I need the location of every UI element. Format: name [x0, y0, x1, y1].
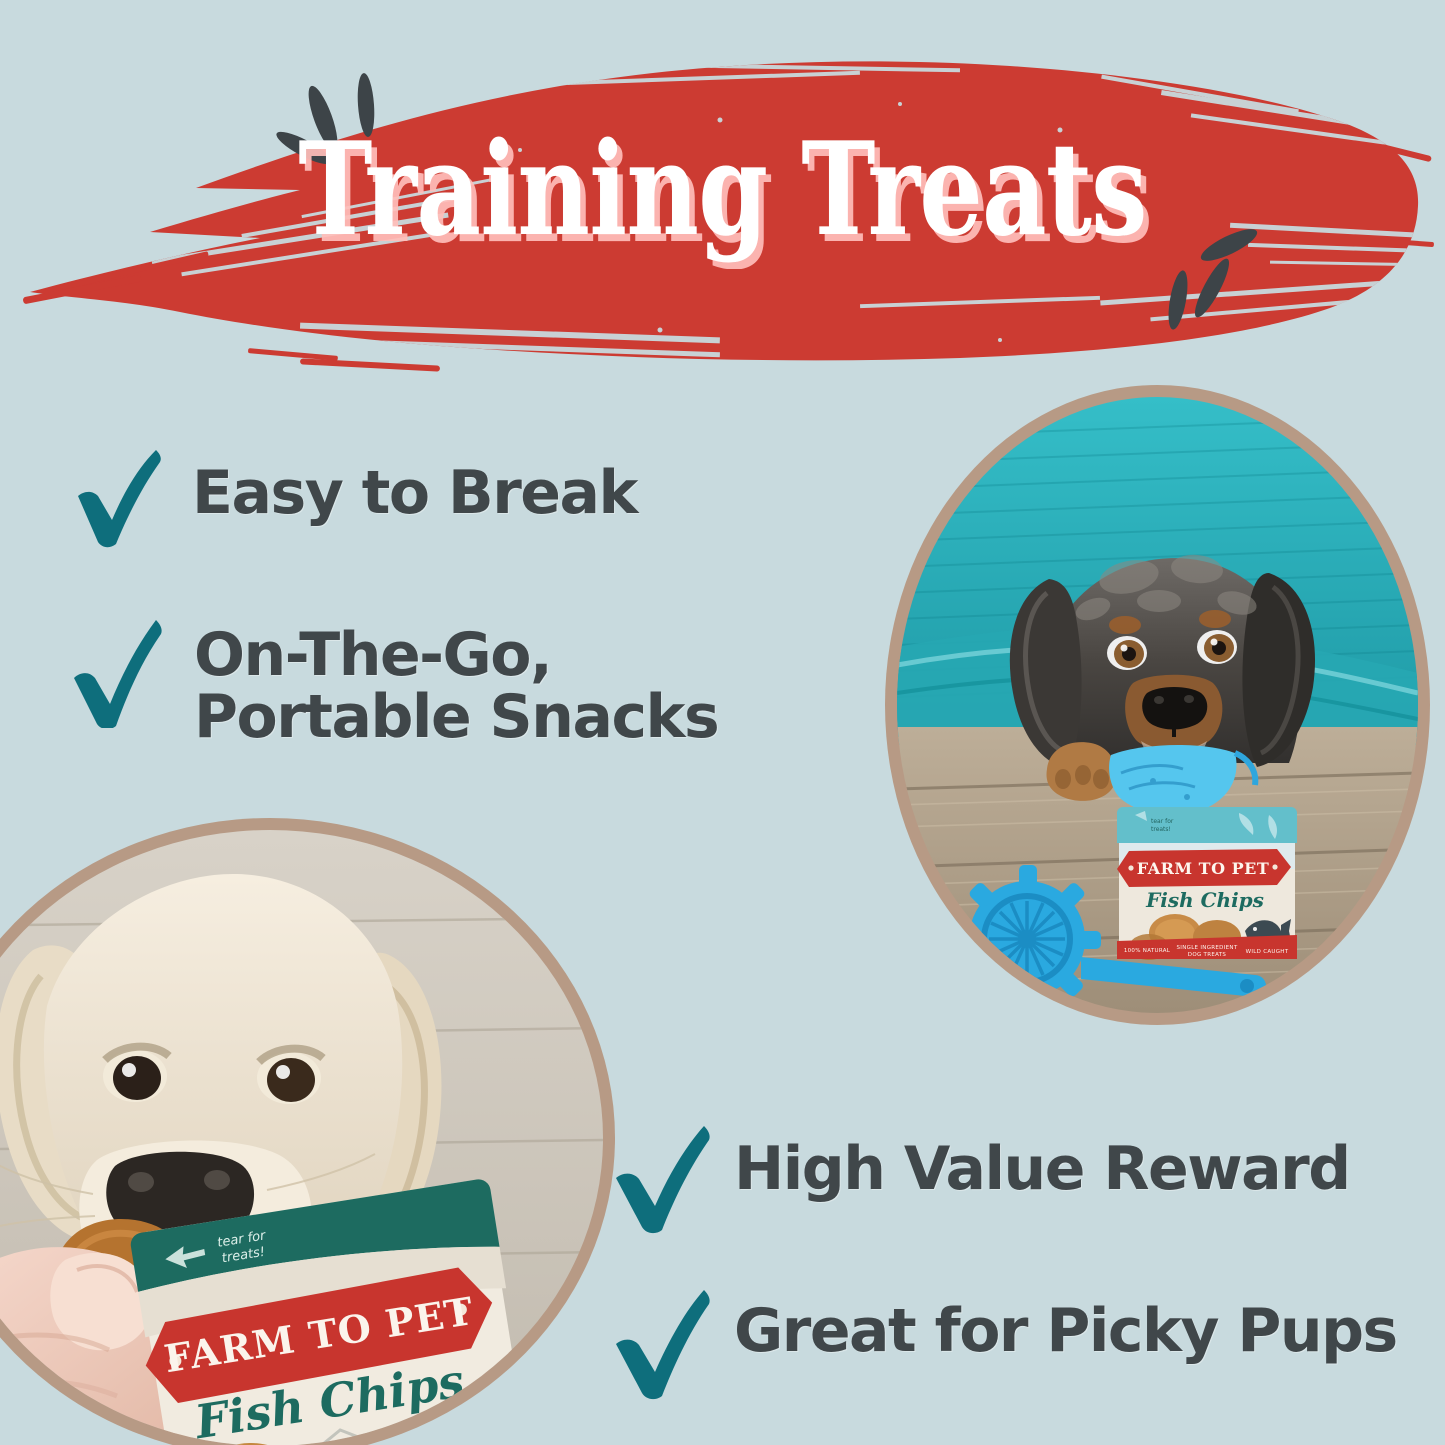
package-claim-ingredient: SINGLE INGREDIENT: [1177, 945, 1238, 951]
photo-dachshund-with-product: tear for treats! FARM TO PET Fish Chips: [897, 397, 1418, 1013]
package-claim-natural: 100% NATURAL: [1124, 948, 1171, 954]
poster-canvas: Training Treats: [0, 0, 1445, 1445]
checklist-item-high-value: High Value Reward: [612, 1126, 1350, 1239]
page-title: Training Treats: [159, 126, 1286, 254]
check-icon: [612, 1126, 712, 1239]
checklist-label: Easy to Break: [192, 462, 637, 524]
header-banner: Training Treats: [0, 0, 1445, 380]
checklist-item-picky-pups: Great for Picky Pups: [612, 1288, 1397, 1405]
checklist-item-on-the-go: On-The-Go, Portable Snacks: [70, 618, 718, 749]
check-icon: [612, 1288, 712, 1405]
checklist-label: High Value Reward: [734, 1138, 1350, 1200]
checklist-label: On-The-Go, Portable Snacks: [194, 624, 718, 749]
checklist-label: Great for Picky Pups: [734, 1300, 1397, 1362]
package-flavor: Fish Chips: [1145, 888, 1264, 912]
package-brand: FARM TO PET: [1137, 859, 1269, 878]
svg-text:treats!: treats!: [1151, 826, 1171, 833]
svg-text:DOG TREATS: DOG TREATS: [1188, 952, 1227, 958]
package-claim-caught: WILD CAUGHT: [1246, 949, 1289, 955]
check-icon: [72, 448, 164, 553]
svg-text:tear for: tear for: [1151, 818, 1174, 825]
check-icon: [70, 618, 166, 733]
checklist-item-easy-to-break: Easy to Break: [72, 448, 637, 553]
